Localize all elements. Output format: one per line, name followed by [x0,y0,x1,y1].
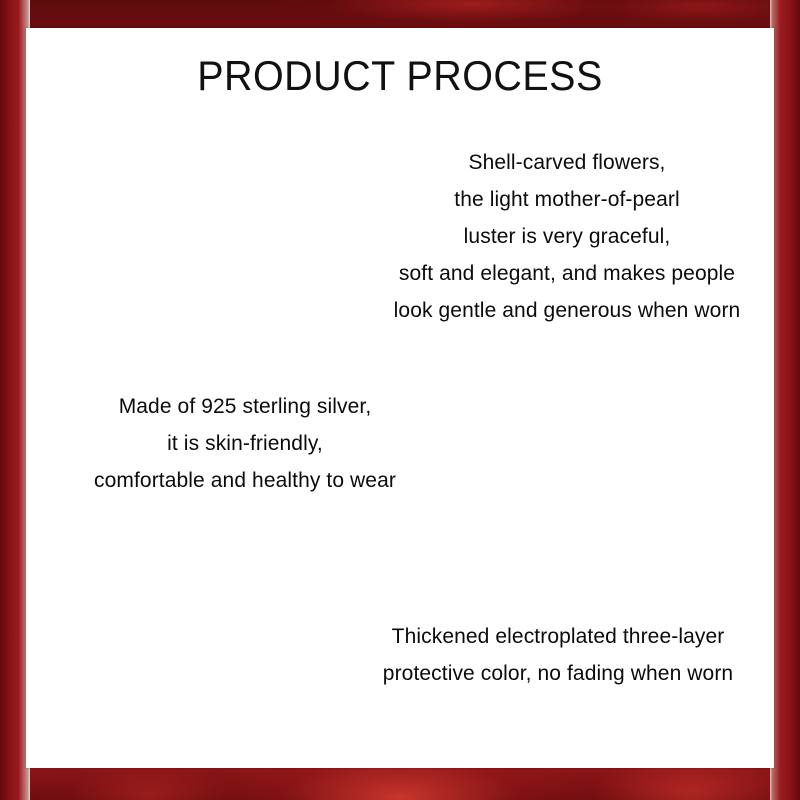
copy-line: Shell-carved flowers, [360,144,774,181]
white-content-page: PRODUCT PROCESS [26,28,774,768]
copy-line: protective color, no fading when worn [346,655,770,692]
silver-curve-stage [465,360,767,545]
copy-line: luster is very graceful, [360,218,774,255]
copy-line: look gentle and generous when worn [360,292,774,329]
charm-stage [58,550,336,746]
copy-line: soft and elegant, and makes people [360,255,774,292]
copy-line: it is skin-friendly, [50,425,440,462]
page-title: PRODUCT PROCESS [48,54,751,98]
copy-line: comfortable and healthy to wear [50,462,440,499]
copy-block-sterling-silver: Made of 925 sterling silver, it is skin-… [50,388,440,499]
photo-full-double-heart-charm [58,550,336,746]
photo-macro-silver-heart-curves [465,360,767,545]
copy-line: Thickened electroplated three-layer [346,618,770,655]
copy-line: the light mother-of-pearl [360,181,774,218]
frame-edge-right [770,0,800,800]
copy-line: Made of 925 sterling silver, [50,388,440,425]
copy-block-electroplated-protection: Thickened electroplated three-layer prot… [346,618,770,692]
copy-block-shell-carved-flowers: Shell-carved flowers, the light mother-o… [360,144,774,329]
photo-macro-heart-pearl-inlay [57,152,339,355]
silver-edge-shadow [749,371,767,452]
product-process-banner: PRODUCT PROCESS [0,0,800,800]
